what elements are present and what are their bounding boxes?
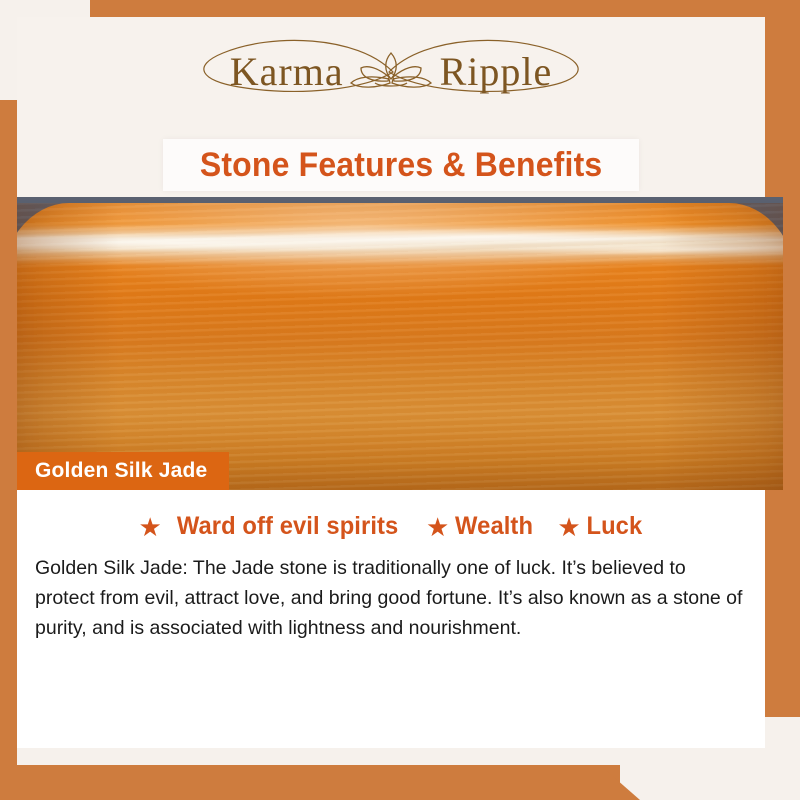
stone-edge-right bbox=[659, 203, 783, 490]
stone-body bbox=[17, 203, 783, 490]
frame-top-left-cut bbox=[0, 0, 90, 17]
stone-edge-left bbox=[17, 203, 119, 490]
stone-description: Golden Silk Jade: The Jade stone is trad… bbox=[35, 553, 747, 644]
feature-item-1: ★ Wealth bbox=[426, 512, 535, 541]
feature-label: Luck bbox=[586, 512, 642, 541]
frame-left-band bbox=[0, 100, 17, 800]
title-box: Stone Features & Benefits bbox=[163, 139, 639, 191]
brand-name-right: Ripple bbox=[440, 52, 553, 92]
poster-root: Karma Ripple Stone Features & Benefits G… bbox=[0, 0, 800, 800]
page-title: Stone Features & Benefits bbox=[200, 146, 603, 185]
brand-logo: Karma Ripple bbox=[161, 29, 621, 115]
frame-bottom-taper bbox=[600, 765, 640, 800]
feature-label: Ward off evil spirits bbox=[177, 512, 398, 541]
star-icon: ★ bbox=[557, 514, 580, 540]
frame-bottom-band bbox=[0, 765, 620, 800]
stone-name-badge: Golden Silk Jade bbox=[17, 452, 229, 490]
stone-photo bbox=[17, 197, 783, 490]
content-area: ★ Ward off evil spirits ★ Wealth ★ Luck … bbox=[17, 490, 765, 748]
frame-top-band bbox=[0, 0, 800, 17]
stone-name-label: Golden Silk Jade bbox=[35, 459, 207, 483]
star-icon: ★ bbox=[139, 514, 162, 540]
brand-name-left: Karma bbox=[230, 52, 344, 92]
feature-item-0: ★ Ward off evil spirits bbox=[139, 512, 404, 541]
brand-header: Karma Ripple bbox=[17, 17, 765, 127]
feature-list: ★ Ward off evil spirits ★ Wealth ★ Luck bbox=[17, 512, 765, 541]
star-icon: ★ bbox=[426, 514, 449, 540]
feature-label: Wealth bbox=[455, 512, 533, 541]
feature-item-2: ★ Luck bbox=[557, 512, 643, 541]
